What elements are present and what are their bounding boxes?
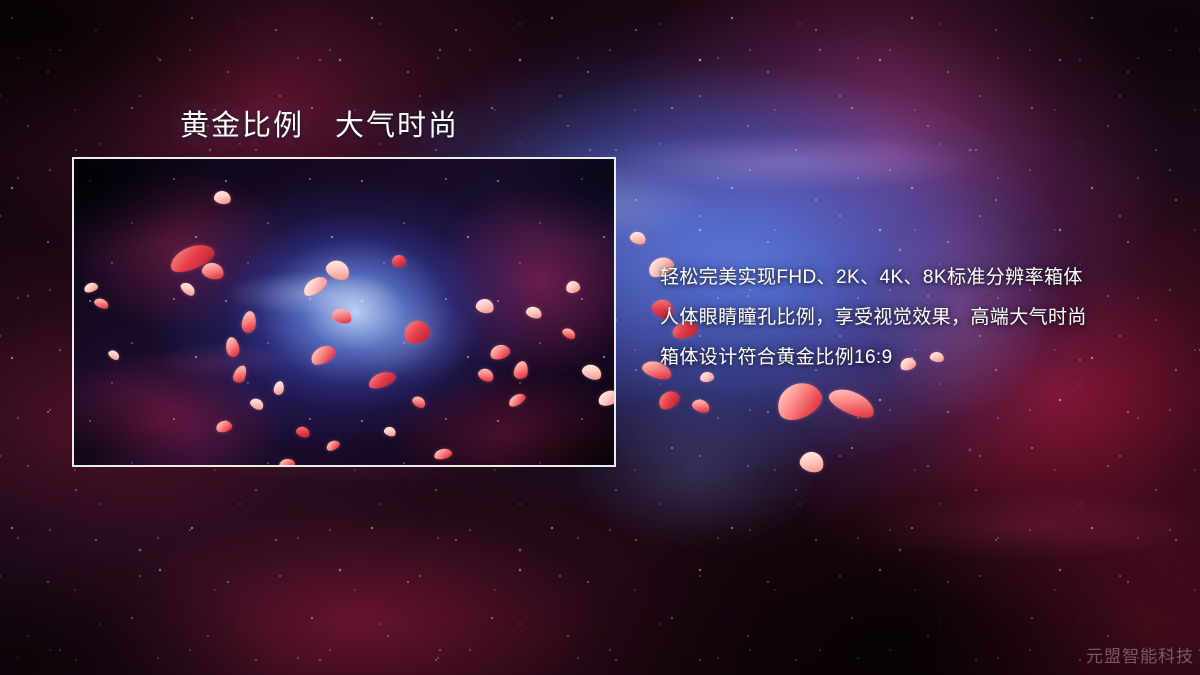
- body-text-line: 人体眼睛瞳孔比例，享受视觉效果，高端大气时尚: [660, 298, 1160, 338]
- body-text-line: 箱体设计符合黄金比例16:9: [660, 338, 1160, 378]
- body-text-block: 轻松完美实现FHD、2K、4K、8K标准分辨率箱体人体眼睛瞳孔比例，享受视觉效果…: [660, 258, 1160, 378]
- body-text-line: 轻松完美实现FHD、2K、4K、8K标准分辨率箱体: [660, 258, 1160, 298]
- flower-petal: [392, 255, 406, 267]
- watermark: 元盟智能科技: [1086, 642, 1194, 667]
- page-title: 黄金比例 大气时尚: [180, 102, 459, 144]
- presentation-slide: 黄金比例 大气时尚 轻松完美实现FHD、2K、4K、8K标准分辨率箱体人体眼睛瞳…: [0, 0, 1200, 675]
- framed-image-panel: [72, 157, 616, 467]
